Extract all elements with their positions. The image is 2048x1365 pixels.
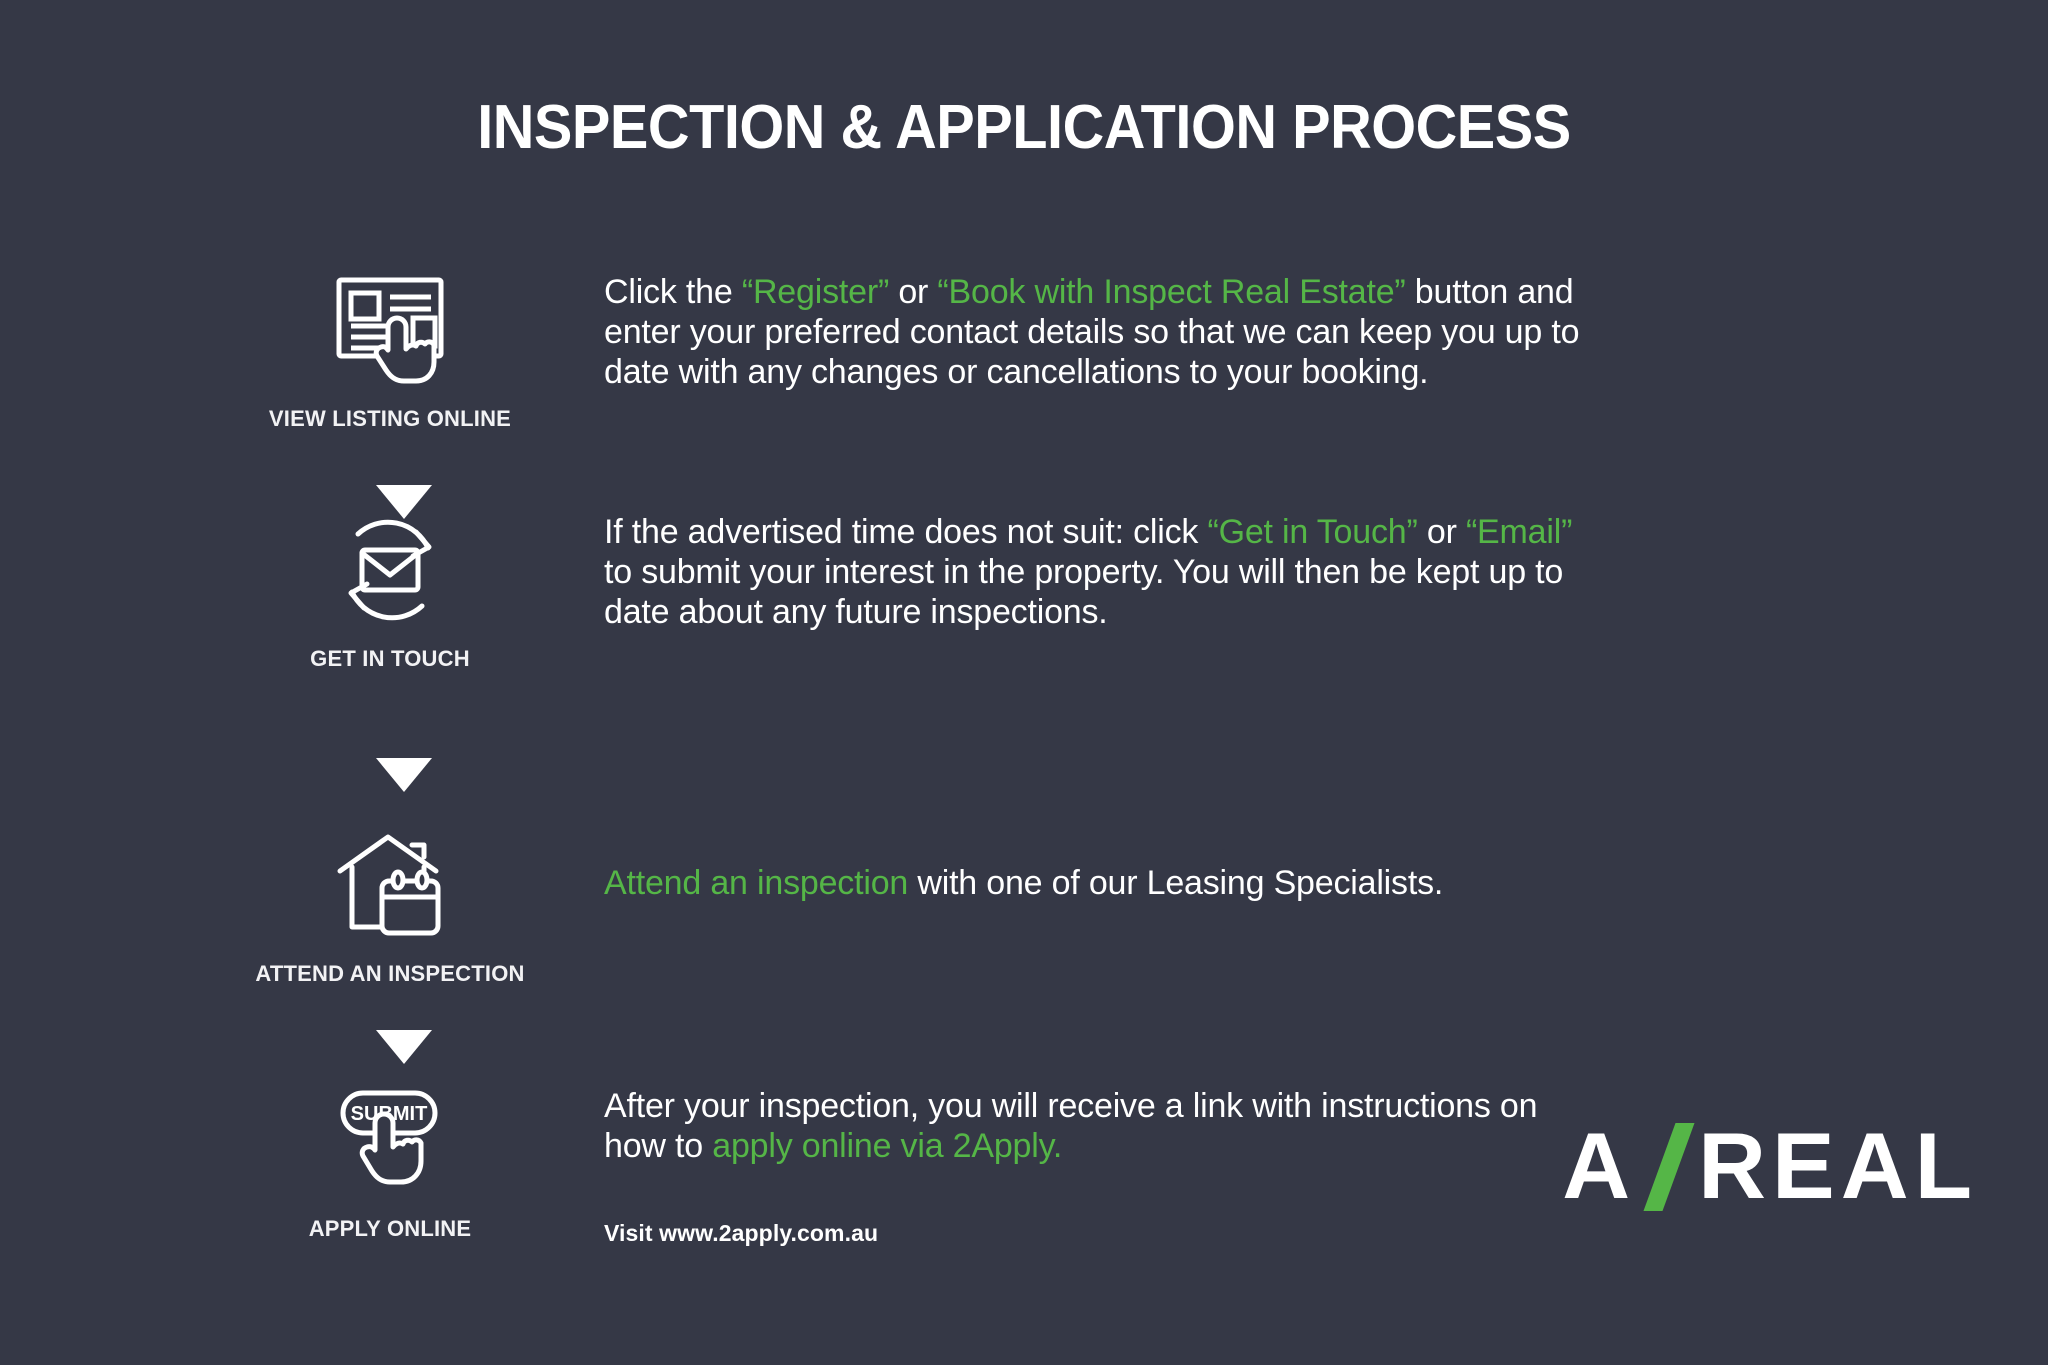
step-2-seg-0: If the advertised time does not suit: cl… bbox=[604, 513, 1207, 551]
step-1-seg-3: “Book with Inspect Real Estate” bbox=[937, 273, 1405, 311]
page-title: INSPECTION & APPLICATION PROCESS bbox=[72, 92, 1977, 163]
step-2-icon-column: GET IN TOUCH bbox=[250, 510, 530, 672]
step-1-seg-0: Click the bbox=[604, 273, 742, 311]
step-1-seg-2: or bbox=[889, 273, 937, 311]
down-triangle-icon-2 bbox=[376, 758, 432, 792]
submit-button-click-icon: SUBMIT bbox=[250, 1080, 530, 1200]
step-2-seg-2: or bbox=[1418, 513, 1466, 551]
step-3-body: Attend an inspection with one of our Lea… bbox=[604, 863, 1604, 903]
step-1-icon-column: VIEW LISTING ONLINE bbox=[250, 270, 530, 432]
step-3-seg-1: with one of our Leasing Specialists. bbox=[908, 864, 1443, 902]
step-4-icon-column: SUBMIT APPLY ONLINE bbox=[250, 1080, 530, 1242]
house-calendar-icon bbox=[250, 825, 530, 945]
step-2-label: GET IN TOUCH bbox=[250, 646, 530, 672]
step-2-seg-4: to submit your interest in the property.… bbox=[604, 553, 1563, 631]
infographic-page: INSPECTION & APPLICATION PROCESS bbox=[0, 0, 2048, 1365]
step-3-label: ATTEND AN INSPECTION bbox=[250, 961, 530, 987]
green-slash-icon bbox=[1646, 1123, 1692, 1209]
step-1-body: Click the “Register” or “Book with Inspe… bbox=[604, 272, 1604, 392]
step-4-label: APPLY ONLINE bbox=[250, 1216, 530, 1242]
step-1-seg-1: “Register” bbox=[742, 273, 889, 311]
step-4-body: After your inspection, you will receive … bbox=[604, 1086, 1604, 1166]
step-2-seg-3: “Email” bbox=[1466, 513, 1572, 551]
listing-page-click-icon bbox=[250, 270, 530, 390]
visit-2apply-note: Visit www.2apply.com.au bbox=[604, 1220, 878, 1247]
logo-letter-a: A bbox=[1562, 1119, 1636, 1213]
down-triangle-icon-3 bbox=[376, 1030, 432, 1064]
step-4-seg-1: apply online via 2Apply. bbox=[712, 1127, 1062, 1165]
step-3-icon-column: ATTEND AN INSPECTION bbox=[250, 825, 530, 987]
logo-word-real: REAL bbox=[1698, 1119, 1978, 1213]
areal-logo: A REAL bbox=[1562, 1119, 1978, 1213]
step-2-seg-1: “Get in Touch” bbox=[1207, 513, 1417, 551]
step-3-seg-0: Attend an inspection bbox=[604, 864, 908, 902]
step-2-body: If the advertised time does not suit: cl… bbox=[604, 512, 1604, 632]
envelope-refresh-icon bbox=[250, 510, 530, 630]
step-1-label: VIEW LISTING ONLINE bbox=[250, 406, 530, 432]
